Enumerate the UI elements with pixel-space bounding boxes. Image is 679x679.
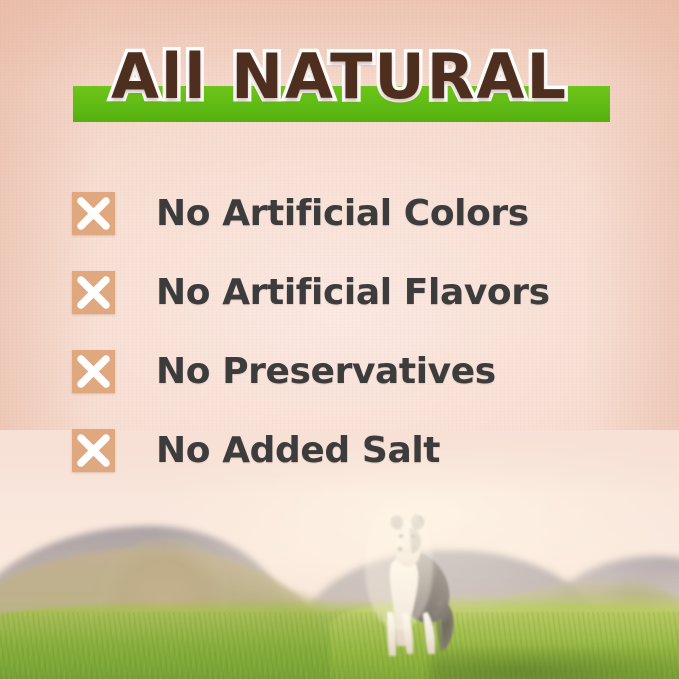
x-mark-icon bbox=[72, 350, 115, 393]
feature-label: No Preservatives bbox=[156, 354, 496, 390]
border-collie-dog bbox=[355, 508, 475, 668]
x-mark-icon bbox=[72, 429, 115, 472]
feature-item: No Artificial Flavors bbox=[72, 253, 632, 332]
feature-label: No Artificial Colors bbox=[156, 196, 529, 232]
x-mark-icon bbox=[72, 271, 115, 314]
feature-item: No Preservatives bbox=[72, 332, 632, 411]
product-feature-poster: All NATURAL No Artificial Colors bbox=[0, 0, 679, 679]
x-mark-icon bbox=[72, 192, 115, 235]
feature-label: No Artificial Flavors bbox=[156, 275, 550, 311]
feature-label: No Added Salt bbox=[156, 433, 440, 469]
page-title: All NATURAL bbox=[0, 46, 679, 108]
feature-list: No Artificial Colors No Artificial Flavo… bbox=[72, 174, 632, 490]
feature-item: No Artificial Colors bbox=[72, 174, 632, 253]
dog-illustration bbox=[355, 508, 475, 668]
feature-item: No Added Salt bbox=[72, 411, 632, 490]
